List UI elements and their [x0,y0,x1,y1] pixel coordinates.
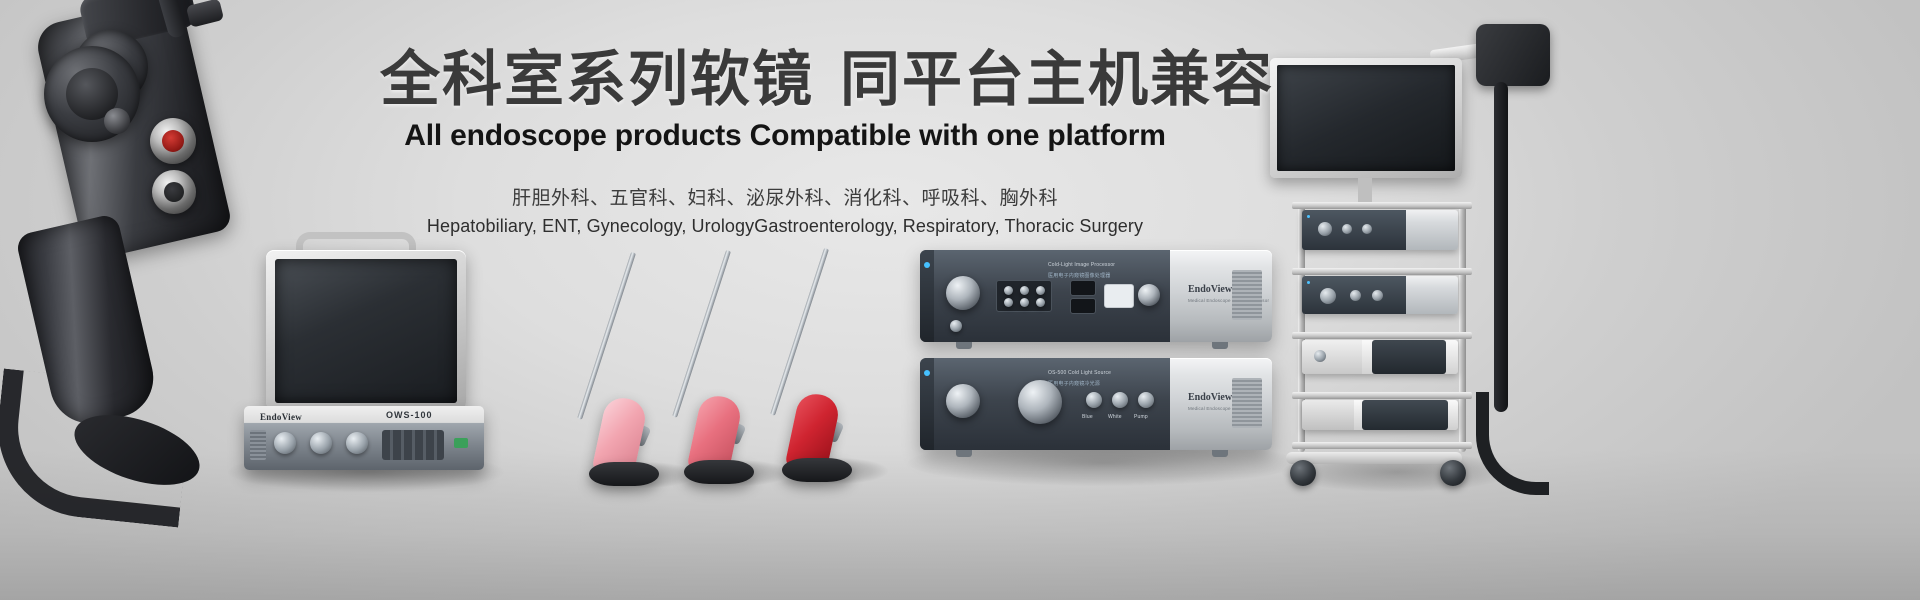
departments-cn: 肝胆外科、五官科、妇科、泌尿外科、消化科、呼吸科、胸外科 [380,183,1190,210]
ows-knob-2 [310,432,332,454]
light-source-power-led [924,370,930,376]
subheadline-en: All endoscope products Compatible with o… [380,119,1190,153]
cart-monitor-screen [1277,65,1455,171]
cart-device-2-knob-2 [1350,290,1361,301]
light-source-button-3 [1138,392,1154,408]
cart-device-1-led [1307,215,1310,218]
cart-device-1-knob-3 [1362,224,1372,234]
cart-device-2-led [1307,281,1310,284]
light-source-foot-right [1212,450,1228,457]
cart-wheel-front-right [1440,460,1466,486]
image-processor-foot-right [1212,342,1228,349]
light-source-main-knob [946,384,980,418]
cart-endoscope-head [1476,24,1550,86]
image-processor-brand: EndoView [1188,284,1232,295]
light-source-vent [1232,378,1262,428]
cart-shelf-2 [1292,268,1472,275]
cart-device-2-knob [1320,288,1336,304]
cart-monitor-stand [1358,178,1372,204]
ows-monitor-screen [275,259,457,403]
flexible-endoscope-image [0,0,300,490]
image-processor-button-1 [1004,286,1013,295]
cart-shelf-base [1292,442,1472,449]
light-source-button-label-3: Pump [1134,414,1148,420]
cart-post-right [1459,202,1466,452]
image-processor-button-6 [1036,298,1045,307]
image-processor-unit: Cold-Light Image Processor 医用电子内窥镜图像处理器 … [920,250,1272,342]
light-source-title: OS-500 Cold Light Source [1048,370,1111,376]
cart-wheel-front-left [1290,460,1316,486]
image-processor-button-4 [1004,298,1013,307]
image-processor-button-2 [1020,286,1029,295]
endoscope-air-water-valve [152,170,196,214]
cart-device-4-panel [1302,400,1354,430]
image-processor-button-3 [1036,286,1045,295]
image-processor-power-led [924,262,930,268]
cart-monitor-bezel [1270,58,1462,178]
cart-device-2 [1302,276,1458,314]
cart-endoscope-cord-loop [1476,392,1549,495]
cart-shelf-1 [1292,202,1472,209]
cart-device-3-panel [1302,340,1362,374]
cart-device-1-knob-2 [1342,224,1352,234]
processor-stack-image: Cold-Light Image Processor 医用电子内窥镜图像处理器 … [920,250,1280,470]
light-source-button-label-2: White [1108,414,1122,420]
banner-text-block: 全科室系列软镜同平台主机兼容 All endoscope products Co… [380,48,1190,237]
laparoscope-3-shaft [770,248,829,416]
endoscope-lever-secondary [186,0,224,28]
cold-light-source-unit: OS-500 Cold Light Source 医用电子内窥镜冷光源 Blue… [920,358,1272,450]
cart-device-4-panel-right [1362,400,1448,430]
cart-device-3-panel-right [1372,340,1446,374]
light-source-button-label-1: Blue [1082,414,1093,420]
image-processor-vent [1232,270,1262,320]
endoscope-suction-valve-red [150,118,196,164]
image-processor-title: Cold-Light Image Processor [1048,262,1115,268]
image-processor-button-5 [1020,298,1029,307]
ows-knob-3 [346,432,368,454]
page-headline: 全科室系列软镜同平台主机兼容 [380,48,1190,113]
cart-device-3 [1302,340,1458,374]
image-processor-secondary-knob [1138,284,1160,306]
cart-shelf-3 [1292,332,1472,339]
cart-device-4 [1302,400,1458,430]
cart-device-1-knob [1318,222,1332,236]
equipment-cart-image [1280,20,1600,520]
headline-cn-part2: 同平台主机兼容 [840,46,1274,113]
departments-en: Hepatobiliary, ENT, Gynecology, UrologyG… [380,216,1190,237]
image-processor-port-2 [1070,298,1096,314]
image-processor-main-knob [946,276,980,310]
cart-device-2-knob-3 [1372,290,1383,301]
laparoscope-3-stand [782,458,852,482]
cart-shelf-4 [1292,392,1472,399]
ows-model-label: OWS-100 [386,410,433,420]
image-processor-button-pad [996,280,1052,312]
light-source-button-2 [1112,392,1128,408]
cart-frame [1298,202,1466,452]
cart-device-1 [1302,210,1458,250]
light-source-button-1 [1086,392,1102,408]
light-source-foot-left [956,450,972,457]
light-source-brightness-dial [1018,380,1062,424]
cart-endoscope-cord [1494,82,1508,412]
image-processor-port-1 [1070,280,1096,296]
endoscope-biopsy-port [104,108,130,134]
image-processor-usb-port [1104,284,1134,308]
image-processor-title-cn: 医用电子内窥镜图像处理器 [1048,272,1110,279]
headline-cn-part1: 全科室系列软镜 [380,46,814,113]
light-source-brand: EndoView [1188,392,1232,403]
ows-status-led [454,438,468,448]
ows-button-pad [382,430,444,460]
cart-device-3-knob [1314,350,1326,362]
image-processor-small-knob [950,320,962,332]
cart-base-bar [1286,452,1462,464]
laparoscope-deep-red-image [698,246,848,496]
endoscopy-product-banner: 全科室系列软镜同平台主机兼容 All endoscope products Co… [0,0,1920,600]
image-processor-foot-left [956,342,972,349]
